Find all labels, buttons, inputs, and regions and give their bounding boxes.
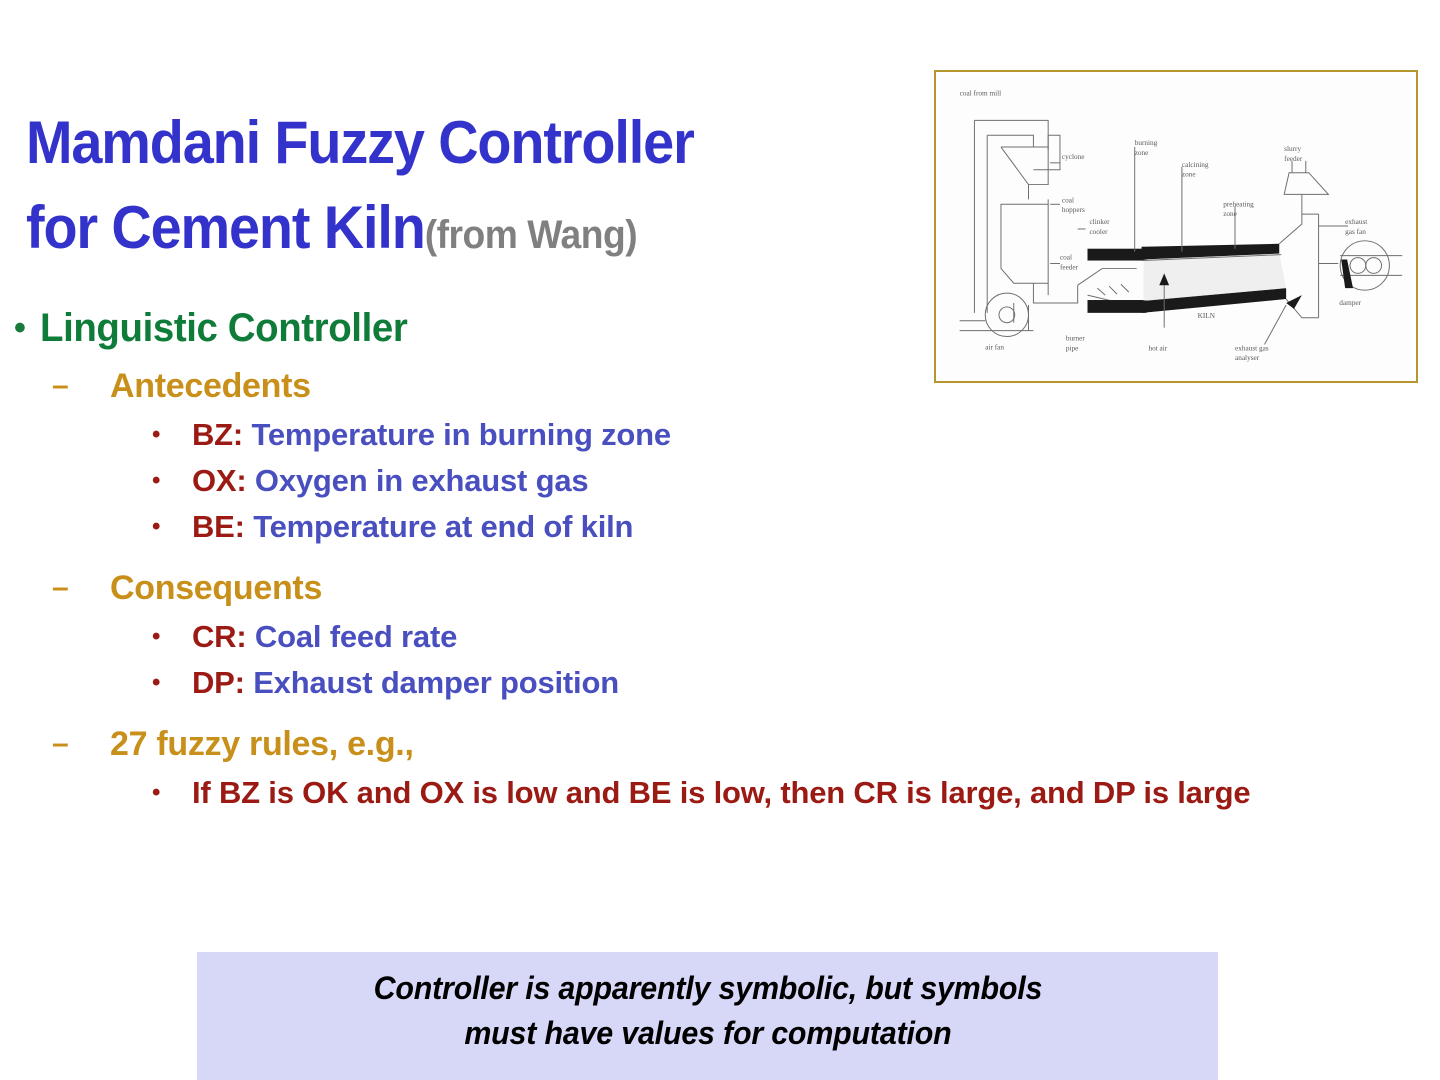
outline-level2-label: Consequents <box>110 564 322 612</box>
diagram-label-hot-air: hot air <box>1148 344 1167 352</box>
bullet-dash-icon: – <box>52 362 110 410</box>
outline-level3-text: BE: Temperature at end of kiln <box>192 504 633 550</box>
diagram-label-slurry-feeder: slurry <box>1284 145 1301 153</box>
bullet-dash-icon: – <box>52 720 110 768</box>
bullet-dash-icon: – <box>52 564 110 612</box>
variable-description: Coal feed rate <box>247 619 458 654</box>
variable-description: Temperature in burning zone <box>243 417 671 452</box>
diagram-label-burning-zone: burning <box>1135 139 1158 147</box>
bullet-dot-icon: • <box>152 458 192 504</box>
bullet-dot-icon: • <box>152 660 192 706</box>
variable-code: BE: <box>192 509 245 544</box>
diagram-label-clinker-cooler-2: cooler <box>1089 228 1108 236</box>
callout-text: Controller is apparently symbolic, but s… <box>373 966 1042 1057</box>
variable-description: Oxygen in exhaust gas <box>247 463 589 498</box>
diagram-label-preheating-zone: preheating <box>1223 200 1254 208</box>
variable-code: BZ: <box>192 417 243 452</box>
variable-code: DP: <box>192 665 245 700</box>
diagram-label-exhaust-gas-analyser: exhaust gas <box>1235 344 1269 352</box>
callout-line-2: must have values for computation <box>373 1011 1042 1056</box>
diagram-label-kiln: KILN <box>1198 312 1216 320</box>
variable-description: Exhaust damper position <box>245 665 619 700</box>
diagram-label-coal-feeder-2: feeder <box>1060 263 1079 271</box>
diagram-label-cyclone: cyclone <box>1062 153 1085 161</box>
diagram-label-exhaust-gas-fan: exhaust <box>1345 218 1367 226</box>
diagram-label-slurry-feeder-2: feeder <box>1284 155 1303 163</box>
page-title: Mamdani Fuzzy Controller for Cement Kiln… <box>26 100 926 270</box>
callout-box: Controller is apparently symbolic, but s… <box>197 952 1218 1080</box>
bullet-dot-icon: • <box>152 614 192 660</box>
diagram-label-coal-hoppers: coal <box>1062 196 1074 204</box>
bullet-dot-icon: • <box>152 412 192 458</box>
list-item: • BE: Temperature at end of kiln <box>0 504 1430 550</box>
cement-kiln-diagram: coal from mill cyclone coal hoppers coal… <box>934 70 1418 383</box>
fuzzy-rule-example: If BZ is OK and OX is low and BE is low,… <box>192 770 1250 816</box>
title-line-2: for Cement Kiln(from Wang) <box>26 185 863 270</box>
title-line-2-main: for Cement Kiln <box>26 194 425 261</box>
list-item: • If BZ is OK and OX is low and BE is lo… <box>0 770 1430 816</box>
diagram-label-calcining-zone: calcining <box>1182 161 1209 169</box>
callout-line-1: Controller is apparently symbolic, but s… <box>373 966 1042 1011</box>
diagram-label-air-fan: air fan <box>985 343 1004 351</box>
diagram-label-coal-hoppers-2: hoppers <box>1062 206 1085 214</box>
outline-level2-label: Antecedents <box>110 362 311 410</box>
diagram-label-exhaust-gas-fan-2: gas fan <box>1345 228 1366 236</box>
diagram-label-calcining-zone-2: zone <box>1182 171 1196 179</box>
bullet-dot-icon: • <box>152 770 192 816</box>
outline-level1-label: Linguistic Controller <box>40 302 407 354</box>
diagram-label-burner-pipe-2: pipe <box>1066 344 1078 352</box>
bullet-dot-icon: • <box>152 504 192 550</box>
title-attribution: (from Wang) <box>425 213 638 257</box>
outline-level2-consequents: – Consequents <box>0 564 1430 612</box>
variable-description: Temperature at end of kiln <box>245 509 634 544</box>
list-item: • DP: Exhaust damper position <box>0 660 1430 706</box>
list-item: • OX: Oxygen in exhaust gas <box>0 458 1430 504</box>
diagram-label-clinker-cooler: clinker <box>1089 218 1110 226</box>
diagram-label-preheating-zone-2: zone <box>1223 210 1237 218</box>
bullet-dot-icon: • <box>0 302 40 354</box>
diagram-label-burning-zone-2: zone <box>1135 149 1149 157</box>
list-item: • CR: Coal feed rate <box>0 614 1430 660</box>
diagram-label-coal-from-mill: coal from mill <box>960 90 1002 98</box>
outline-level3-text: CR: Coal feed rate <box>192 614 457 660</box>
outline-level2-fuzzy-rules: – 27 fuzzy rules, e.g., <box>0 720 1430 768</box>
variable-code: CR: <box>192 619 247 654</box>
outline-level3-text: BZ: Temperature in burning zone <box>192 412 671 458</box>
diagram-label-exhaust-gas-analyser-2: analyser <box>1235 354 1260 362</box>
kiln-schematic-svg: coal from mill cyclone coal hoppers coal… <box>940 76 1412 377</box>
outline-level2-label: 27 fuzzy rules, e.g., <box>110 720 414 768</box>
outline-level3-text: OX: Oxygen in exhaust gas <box>192 458 588 504</box>
diagram-label-burner-pipe: burner <box>1066 334 1086 342</box>
diagram-label-coal-feeder: coal <box>1060 254 1072 262</box>
list-item: • BZ: Temperature in burning zone <box>0 412 1430 458</box>
diagram-label-damper: damper <box>1339 299 1361 307</box>
title-line-1: Mamdani Fuzzy Controller <box>26 100 863 185</box>
outline-level3-text: DP: Exhaust damper position <box>192 660 619 706</box>
variable-code: OX: <box>192 463 247 498</box>
